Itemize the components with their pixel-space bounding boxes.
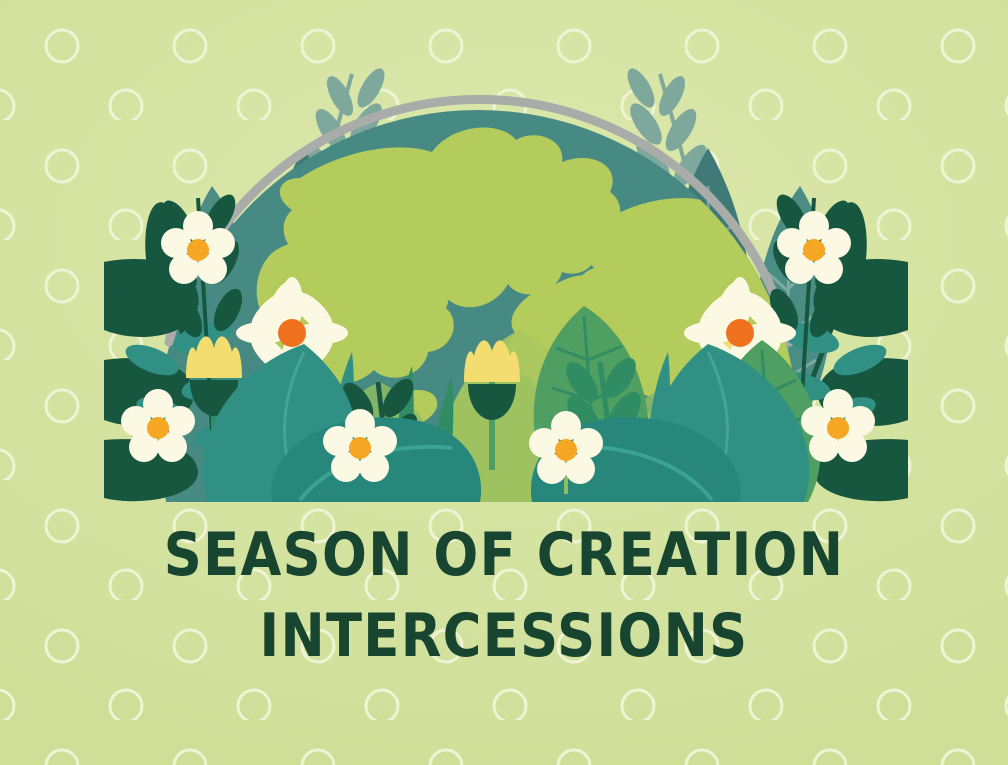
illustration-panel bbox=[104, 0, 908, 502]
poster-title: SEASON OF CREATION INTERCESSIONS bbox=[0, 525, 1008, 667]
title-line-2: INTERCESSIONS bbox=[60, 606, 947, 667]
poster-canvas: SEASON OF CREATION INTERCESSIONS bbox=[0, 0, 1008, 765]
title-line-1: SEASON OF CREATION bbox=[60, 525, 947, 586]
